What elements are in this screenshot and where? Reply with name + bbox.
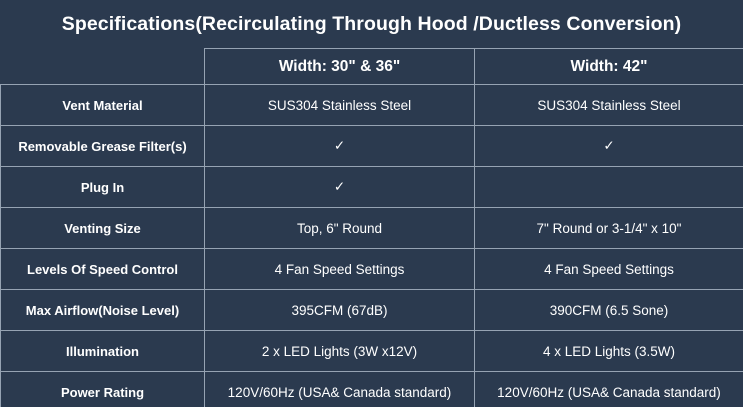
row-value-col2: SUS304 Stainless Steel: [475, 85, 743, 126]
table-row: Vent Material SUS304 Stainless Steel SUS…: [1, 85, 743, 126]
row-value-col2: ✓: [475, 126, 743, 167]
table-header-col2: Width: 42": [475, 49, 743, 85]
row-value-col1: 120V/60Hz (USA& Canada standard): [205, 372, 475, 407]
table-row: Levels Of Speed Control 4 Fan Speed Sett…: [1, 249, 743, 290]
row-label: Power Rating: [1, 372, 205, 407]
row-value-col2: 7" Round or 3-1/4" x 10": [475, 208, 743, 249]
table-row: Power Rating 120V/60Hz (USA& Canada stan…: [1, 372, 743, 407]
row-value-col2: 390CFM (6.5 Sone): [475, 290, 743, 331]
row-label: Venting Size: [1, 208, 205, 249]
row-value-col2: 4 x LED Lights (3.5W): [475, 331, 743, 372]
table-row: Venting Size Top, 6" Round 7" Round or 3…: [1, 208, 743, 249]
row-value-col1: SUS304 Stainless Steel: [205, 85, 475, 126]
row-label: Illumination: [1, 331, 205, 372]
row-value-col1: ✓: [205, 126, 475, 167]
row-label: Vent Material: [1, 85, 205, 126]
specifications-card: Specifications(Recirculating Through Hoo…: [0, 0, 743, 407]
row-label: Plug In: [1, 167, 205, 208]
row-value-col1: 2 x LED Lights (3W x12V): [205, 331, 475, 372]
row-value-col2: [475, 167, 743, 208]
table-row: Removable Grease Filter(s) ✓ ✓: [1, 126, 743, 167]
table-row: Max Airflow(Noise Level) 395CFM (67dB) 3…: [1, 290, 743, 331]
row-value-col1: Top, 6" Round: [205, 208, 475, 249]
table-header-row: Width: 30" & 36" Width: 42": [1, 49, 743, 85]
table-row: Illumination 2 x LED Lights (3W x12V) 4 …: [1, 331, 743, 372]
table-header-col1: Width: 30" & 36": [205, 49, 475, 85]
page-title: Specifications(Recirculating Through Hoo…: [0, 0, 743, 48]
row-label: Levels Of Speed Control: [1, 249, 205, 290]
row-label: Removable Grease Filter(s): [1, 126, 205, 167]
row-value-col1: ✓: [205, 167, 475, 208]
table-row: Plug In ✓: [1, 167, 743, 208]
row-label: Max Airflow(Noise Level): [1, 290, 205, 331]
row-value-col2: 4 Fan Speed Settings: [475, 249, 743, 290]
row-value-col1: 4 Fan Speed Settings: [205, 249, 475, 290]
row-value-col1: 395CFM (67dB): [205, 290, 475, 331]
specifications-table: Width: 30" & 36" Width: 42" Vent Materia…: [0, 48, 743, 407]
row-value-col2: 120V/60Hz (USA& Canada standard): [475, 372, 743, 407]
table-header-corner: [1, 49, 205, 85]
